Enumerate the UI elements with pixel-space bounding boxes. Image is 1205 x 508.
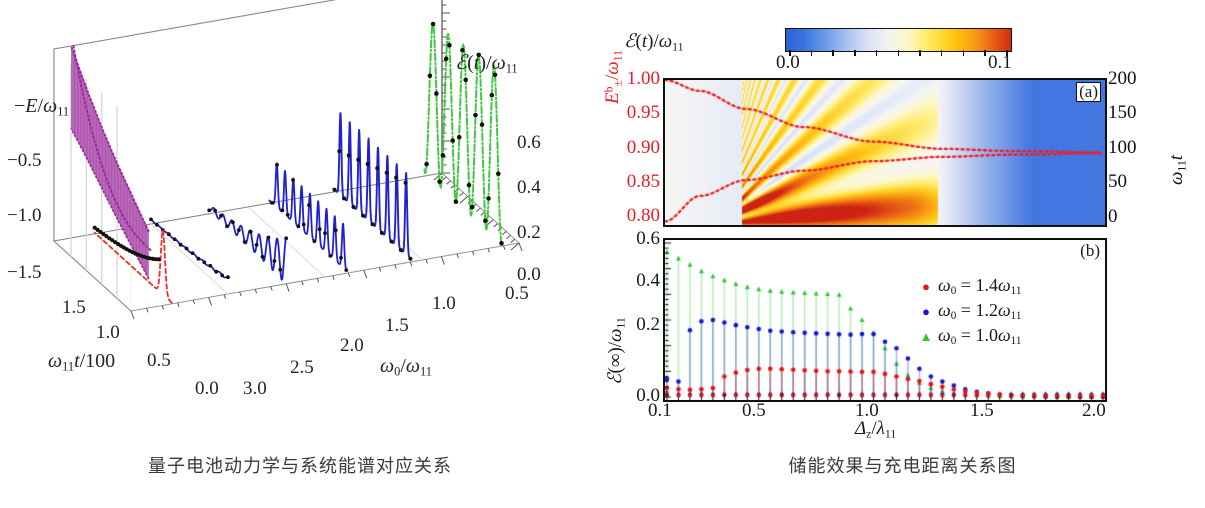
colorbar-tick	[1006, 50, 1008, 56]
legend-item-1: ● ω0 = 1.2ω11	[918, 299, 1021, 324]
colorbar-gradient	[785, 28, 1012, 52]
legend-item-0: ● ω0 = 1.4ω11	[918, 274, 1021, 299]
left-y-tick-1.5: 1.5	[385, 315, 409, 337]
left-z-tick-0: −0.5	[7, 150, 41, 172]
panel-b-scatter-canvas	[665, 240, 1105, 400]
legend-label-1: ω0 = 1.2ω11	[934, 300, 1021, 322]
left-y-tick-3.0: 3.0	[243, 378, 267, 400]
panel-a-y2tick-50: 50	[1108, 171, 1127, 193]
legend-label-2: ω0 = 1.0ω11	[934, 325, 1021, 347]
left-x-tick-1: 1.0	[96, 322, 120, 344]
panel-a-y2tick-0: 0	[1108, 206, 1118, 228]
caption-right: 储能效果与充电距离关系图	[600, 452, 1205, 478]
panel-b-xtick-0.5: 0.5	[742, 400, 766, 422]
panel-b-xtick-0.1: 0.1	[648, 400, 672, 422]
panel-a-ytick-0.95: 0.95	[627, 102, 660, 124]
panel-b-xtick-2.0: 2.0	[1082, 400, 1106, 422]
left-x-tick-2: 0.5	[147, 350, 171, 372]
colorbar-tick	[941, 50, 943, 56]
panel-b-tag: (b)	[1080, 242, 1100, 260]
caption-left: 量子电池动力学与系统能谱对应关系	[0, 452, 600, 478]
legend-marker-green: ▲	[918, 330, 934, 343]
left-y-axis-label: ω0/ω11	[380, 355, 432, 379]
panel-b-ytick-0.6: 0.6	[636, 228, 660, 250]
colorbar-tick	[854, 50, 856, 56]
panel-a-y2tick-150: 150	[1108, 102, 1137, 124]
left-z-axis-label: −E/ω11	[14, 95, 69, 119]
panel-b-ytick-0.4: 0.4	[636, 270, 660, 292]
left-z-tick-2: −1.5	[7, 262, 41, 284]
colorbar: ℰ(t)/ω11 0.0 0.1	[600, 14, 1205, 76]
left-z-tick-1: −1.0	[7, 205, 41, 227]
left-y-tick-2.0: 2.0	[340, 335, 364, 357]
colorbar-tick	[811, 50, 813, 56]
panel-a-y2tick-200: 200	[1108, 68, 1137, 90]
colorbar-tick	[876, 50, 878, 56]
panel-b-xtick-1.5: 1.5	[970, 400, 994, 422]
panel-a-ytick-0.85: 0.85	[627, 171, 660, 193]
left-3d-plot: −E/ω11 −0.5 −1.0 −1.5 ℰ(t)/ω11 0.6 0.4 0…	[0, 0, 600, 440]
colorbar-tick	[832, 50, 834, 56]
colorbar-tick	[984, 50, 986, 56]
panel-a-tag: (a)	[1076, 82, 1101, 102]
colorbar-tick	[898, 50, 900, 56]
panel-a-heatmap-canvas	[665, 80, 1105, 225]
right-z-tick-1: 0.4	[517, 177, 541, 199]
right-z-tick-0: 0.6	[517, 132, 541, 154]
colorbar-max-tick-label: 0.1	[988, 52, 1012, 74]
panel-a-ytick-0.80: 0.80	[627, 205, 660, 227]
legend-marker-blue: ●	[918, 305, 934, 318]
left-y-tick-0.5: 0.5	[505, 283, 529, 305]
panel-a-y-axis-label: Eb±/ω11	[602, 50, 625, 104]
legend-item-2: ▲ ω0 = 1.0ω11	[918, 324, 1021, 349]
figure-root: −E/ω11 −0.5 −1.0 −1.5 ℰ(t)/ω11 0.6 0.4 0…	[0, 0, 1205, 508]
right-z-tick-2: 0.2	[517, 222, 541, 244]
panel-b-x-axis-label: Δz/λ11	[855, 418, 896, 441]
legend-label-0: ω0 = 1.4ω11	[934, 275, 1021, 297]
panel-b-y-axis-label: ℰ(∞)/ω11	[604, 317, 628, 385]
panel-b-ytick-0.2: 0.2	[636, 314, 660, 336]
panel-b-scatter: (b) ● ω0 = 1.4ω11 ● ω0 = 1.2ω11 ▲	[663, 238, 1107, 402]
left-y-tick-1.0: 1.0	[432, 293, 456, 315]
left-y-tick-2.5: 2.5	[290, 357, 314, 379]
panel-a-y2-axis-label: ω11t	[1166, 155, 1189, 185]
right-z-axis-label: ℰ(t)/ω11	[455, 50, 518, 76]
panel-a-ytick-1.00: 1.00	[627, 68, 660, 90]
left-x-tick-0: 1.5	[62, 297, 86, 319]
left-x-tick-3: 0.0	[195, 378, 219, 400]
colorbar-tick	[963, 50, 965, 56]
colorbar-tick	[789, 50, 791, 56]
panel-a-y2tick-100: 100	[1108, 137, 1137, 159]
colorbar-min-tick-label: 0.0	[776, 52, 800, 74]
left-x-axis-label: ω11t/100	[48, 350, 115, 374]
panel-b-legend: ● ω0 = 1.4ω11 ● ω0 = 1.2ω11 ▲ ω0 = 1.0ω1…	[918, 274, 1021, 349]
colorbar-label: ℰ(t)/ω11	[624, 30, 684, 54]
right-plots-column: ℰ(t)/ω11 0.0 0.1 (a) Eb±/ω11 1.00 0.95 0…	[600, 0, 1205, 440]
legend-marker-red: ●	[918, 280, 934, 293]
colorbar-tick	[919, 50, 921, 56]
panel-a-heatmap: (a)	[663, 78, 1107, 227]
panel-a-ytick-0.90: 0.90	[627, 137, 660, 159]
